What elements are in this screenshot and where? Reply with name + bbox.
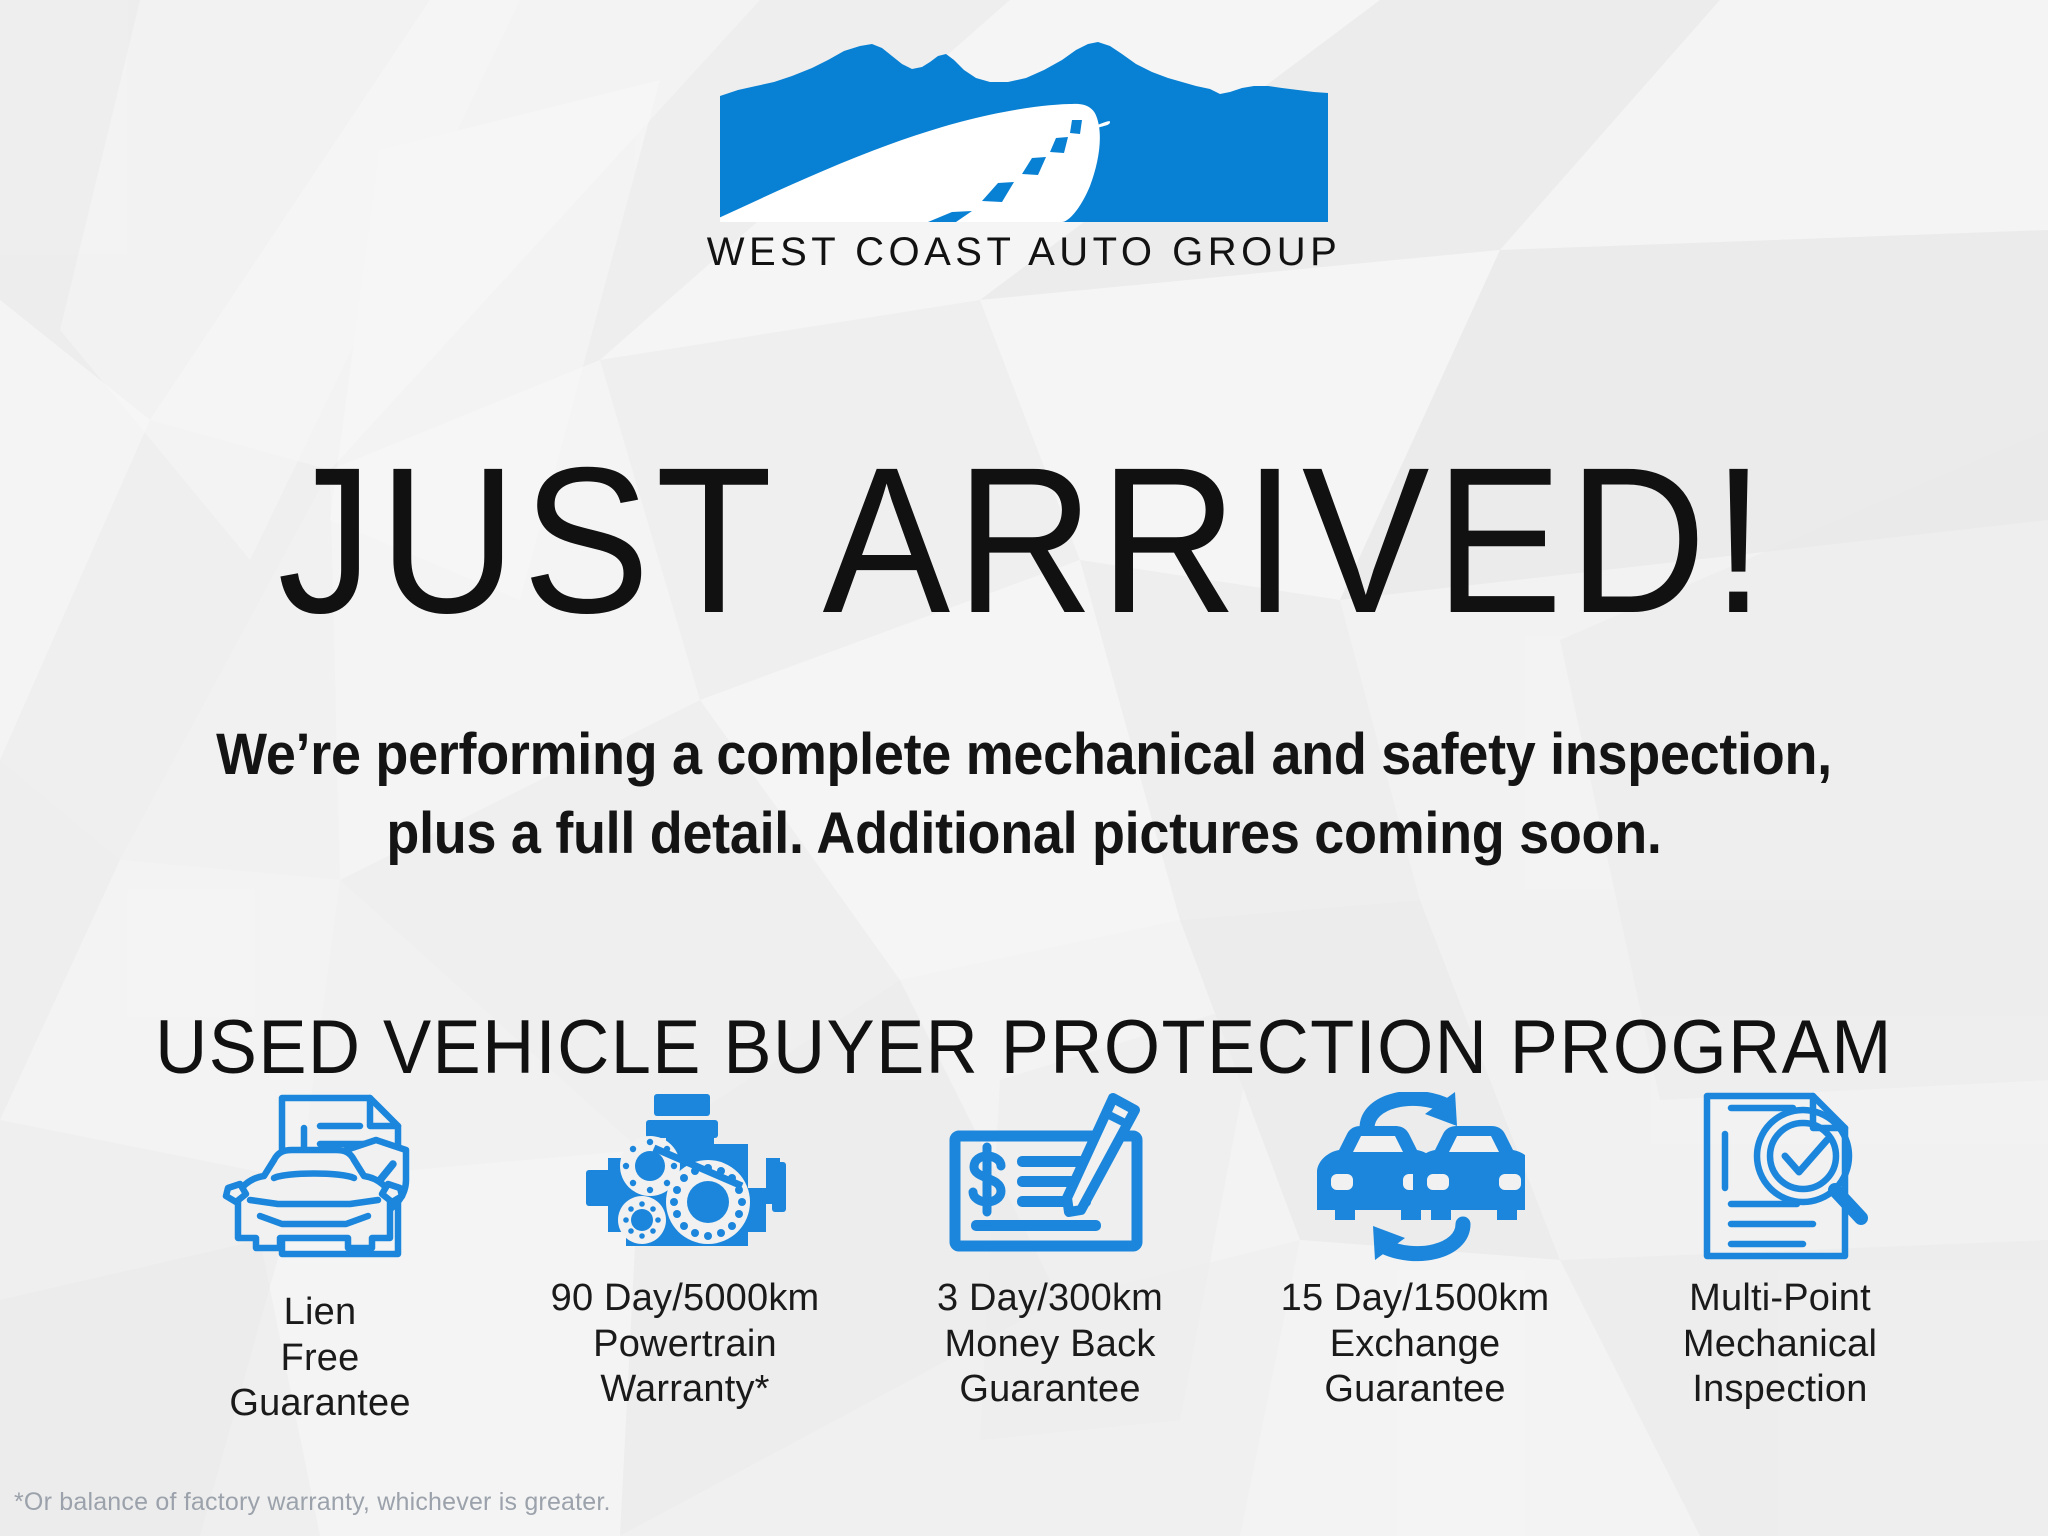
subhead-line-1: We’re performing a complete mechanical a… [206,716,1843,795]
benefit-label-line: Lien [229,1290,410,1336]
benefit-label-line: 90 Day/5000km [551,1276,820,1322]
benefit-label-line: Free [229,1336,410,1382]
document-magnifier-check-icon [1685,1092,1875,1264]
benefit-powertrain-warranty: 90 Day/5000km Powertrain Warranty* [515,1092,855,1413]
benefit-money-back: 3 Day/300km Money Back Guarantee [880,1092,1220,1413]
benefit-label: 3 Day/300km Money Back Guarantee [937,1276,1163,1413]
car-document-shield-check-icon [220,1092,420,1278]
page-title: JUST ARRIVED! [82,440,1966,644]
benefit-label-line: Guarantee [229,1381,410,1427]
benefit-label-line: 3 Day/300km [937,1276,1163,1322]
benefit-label-line: Warranty* [551,1367,820,1413]
benefit-label: Multi-Point Mechanical Inspection [1683,1276,1877,1413]
engine-icon [580,1092,790,1264]
promo-poster: WEST COAST AUTO GROUP JUST ARRIVED! We’r… [0,0,2048,1536]
benefit-label-line: Inspection [1683,1367,1877,1413]
two-cars-exchange-arrows-icon [1305,1092,1525,1264]
benefit-icon-wrap [1685,1092,1875,1264]
brand-logo: WEST COAST AUTO GROUP [0,42,2048,275]
benefit-label-line: Guarantee [937,1367,1163,1413]
mountain-road-logo-icon [720,42,1328,222]
benefit-exchange: 15 Day/1500km Exchange Guarantee [1245,1092,1585,1413]
benefit-label: 90 Day/5000km Powertrain Warranty* [551,1276,820,1413]
benefit-label: Lien Free Guarantee [229,1290,410,1427]
benefit-label-line: Guarantee [1281,1367,1550,1413]
benefit-icon-wrap [580,1092,790,1264]
benefit-label-line: Multi-Point [1683,1276,1877,1322]
benefit-label-line: 15 Day/1500km [1281,1276,1550,1322]
subhead-line-2: plus a full detail. Additional pictures … [206,795,1843,874]
benefit-icon-wrap [945,1092,1155,1264]
cheque-pen-icon [945,1092,1155,1264]
benefit-label-line: Mechanical [1683,1322,1877,1368]
benefit-icon-wrap [220,1092,420,1278]
benefit-lien-free: Lien Free Guarantee [150,1092,490,1427]
benefit-label-line: Powertrain [551,1322,820,1368]
benefit-label-line: Money Back [937,1322,1163,1368]
benefit-label-line: Exchange [1281,1322,1550,1368]
logo-wordmark: WEST COAST AUTO GROUP [0,230,2048,275]
benefit-icon-wrap [1305,1092,1525,1264]
benefits-row: Lien Free Guarantee [150,1092,1950,1427]
subhead: We’re performing a complete mechanical a… [144,716,1904,874]
benefit-multi-point-inspection: Multi-Point Mechanical Inspection [1610,1092,1950,1413]
footnote-disclaimer: *Or balance of factory warranty, whichev… [14,1488,611,1517]
benefit-label: 15 Day/1500km Exchange Guarantee [1281,1276,1550,1413]
program-title: USED VEHICLE BUYER PROTECTION PROGRAM [51,1004,1997,1091]
